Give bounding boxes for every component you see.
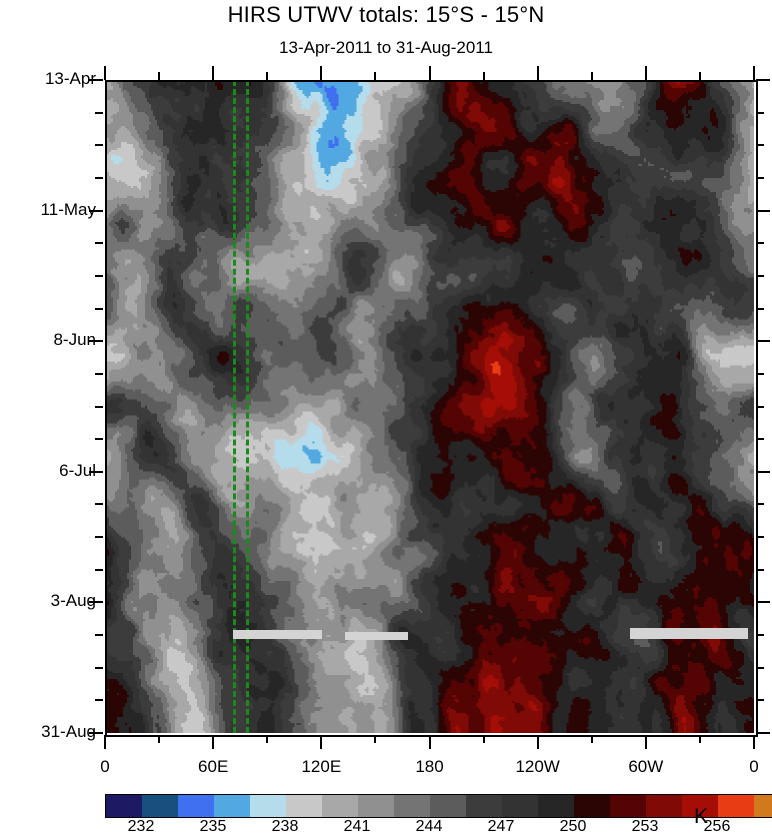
y-axis-minor-tick xyxy=(95,177,103,179)
colorbar-swatch xyxy=(646,795,682,817)
y-axis-major-tick xyxy=(756,340,770,342)
y-axis-minor-tick xyxy=(95,308,103,310)
x-axis-major-tick xyxy=(753,66,755,80)
y-axis-minor-tick xyxy=(95,699,103,701)
y-axis-minor-tick xyxy=(95,373,103,375)
hovmoller-plot-area[interactable] xyxy=(105,80,754,733)
colorbar-swatch xyxy=(610,795,646,817)
colorbar-swatch xyxy=(574,795,610,817)
x-axis-tick-label: 0 xyxy=(714,757,772,777)
x-axis-major-tick xyxy=(645,66,647,80)
y-axis-minor-tick xyxy=(756,667,764,669)
colorbar-tick-label: 232 xyxy=(111,818,171,836)
colorbar[interactable] xyxy=(105,794,772,818)
colorbar-swatch xyxy=(502,795,538,817)
y-axis-minor-tick xyxy=(95,242,103,244)
x-axis-tick-label: 180 xyxy=(390,757,470,777)
x-axis-major-tick xyxy=(429,66,431,80)
x-axis-minor-tick xyxy=(483,72,485,80)
y-axis-minor-tick xyxy=(756,112,764,114)
colorbar-swatch xyxy=(718,795,754,817)
y-axis-major-tick xyxy=(756,471,770,473)
x-axis-minor-tick xyxy=(591,735,593,743)
colorbar-unit-label: K xyxy=(694,805,708,829)
x-axis-major-tick xyxy=(320,66,322,80)
y-axis-minor-tick xyxy=(756,373,764,375)
colorbar-tick-label: 253 xyxy=(615,818,675,836)
missing-data-strip xyxy=(630,628,748,639)
y-axis-major-tick xyxy=(756,79,770,81)
y-axis-major-tick xyxy=(756,732,770,734)
y-axis-minor-tick xyxy=(756,536,764,538)
figure-subtitle: 13-Apr-2011 to 31-Aug-2011 xyxy=(0,38,772,58)
colorbar-swatch xyxy=(466,795,502,817)
colorbar-swatch xyxy=(106,795,142,817)
y-axis-tick-label: 8-Jun xyxy=(0,330,96,350)
y-axis-minor-tick xyxy=(756,699,764,701)
y-axis-major-tick xyxy=(756,210,770,212)
y-axis-minor-tick xyxy=(95,112,103,114)
y-axis-minor-tick xyxy=(756,634,764,636)
x-axis-minor-tick xyxy=(591,72,593,80)
y-axis-tick-label: 31-Aug xyxy=(0,722,96,742)
x-axis-tick-label: 60W xyxy=(606,757,686,777)
missing-data-strip xyxy=(233,630,322,639)
y-axis-minor-tick xyxy=(756,275,764,277)
colorbar-tick-label: 244 xyxy=(399,818,459,836)
colorbar-tick-label: 250 xyxy=(543,818,603,836)
y-axis-minor-tick xyxy=(95,144,103,146)
x-axis-major-tick xyxy=(104,66,106,80)
x-axis-major-tick xyxy=(320,735,322,749)
y-axis-minor-tick xyxy=(756,438,764,440)
y-axis-tick-label: 11-May xyxy=(0,200,96,220)
page-title: HIRS UTWV totals: 15°S - 15°N xyxy=(0,2,772,28)
x-axis-major-tick xyxy=(212,66,214,80)
y-axis-minor-tick xyxy=(95,667,103,669)
y-axis-tick-label: 6-Jul xyxy=(0,461,96,481)
colorbar-swatch xyxy=(430,795,466,817)
y-axis-minor-tick xyxy=(95,438,103,440)
colorbar-tick-label: 241 xyxy=(327,818,387,836)
x-axis-minor-tick xyxy=(483,735,485,743)
colorbar-swatch xyxy=(754,795,772,817)
y-axis-minor-tick xyxy=(756,144,764,146)
x-axis-major-tick xyxy=(104,735,106,749)
y-axis-minor-tick xyxy=(756,242,764,244)
x-axis-tick-label: 120E xyxy=(281,757,361,777)
x-axis-major-tick xyxy=(212,735,214,749)
x-axis-minor-tick xyxy=(699,72,701,80)
y-axis-minor-tick xyxy=(95,569,103,571)
y-axis-minor-tick xyxy=(756,308,764,310)
y-axis-tick-label: 3-Aug xyxy=(0,591,96,611)
x-axis-minor-tick xyxy=(158,735,160,743)
x-axis-major-tick xyxy=(429,735,431,749)
x-axis-tick-label: 60E xyxy=(173,757,253,777)
y-axis-minor-tick xyxy=(756,503,764,505)
colorbar-swatch xyxy=(214,795,250,817)
x-axis-major-tick xyxy=(645,735,647,749)
y-axis-tick-label: 13-Apr xyxy=(0,69,96,89)
colorbar-swatch xyxy=(286,795,322,817)
colorbar-swatch xyxy=(250,795,286,817)
x-axis-minor-tick xyxy=(266,72,268,80)
y-axis-minor-tick xyxy=(95,536,103,538)
x-axis-major-tick xyxy=(753,735,755,749)
x-axis-minor-tick xyxy=(374,735,376,743)
y-axis-minor-tick xyxy=(95,275,103,277)
colorbar-swatch xyxy=(358,795,394,817)
x-axis-minor-tick xyxy=(699,735,701,743)
y-axis-minor-tick xyxy=(756,177,764,179)
colorbar-tick-label: 247 xyxy=(471,818,531,836)
x-axis-tick-label: 0 xyxy=(65,757,145,777)
y-axis-minor-tick xyxy=(756,406,764,408)
colorbar-swatch xyxy=(178,795,214,817)
colorbar-swatch xyxy=(538,795,574,817)
y-axis-minor-tick xyxy=(95,503,103,505)
colorbar-swatch xyxy=(394,795,430,817)
y-axis-minor-tick xyxy=(95,406,103,408)
colorbar-tick-label: 235 xyxy=(183,818,243,836)
colorbar-swatch xyxy=(142,795,178,817)
colorbar-swatch xyxy=(322,795,358,817)
hovmoller-figure: HIRS UTWV totals: 15°S - 15°N 13-Apr-201… xyxy=(0,0,772,834)
y-axis-minor-tick xyxy=(95,634,103,636)
x-axis-tick-label: 120W xyxy=(498,757,578,777)
x-axis-minor-tick xyxy=(374,72,376,80)
y-axis-minor-tick xyxy=(756,569,764,571)
x-axis-minor-tick xyxy=(158,72,160,80)
x-axis-major-tick xyxy=(537,735,539,749)
x-axis-minor-tick xyxy=(266,735,268,743)
x-axis-major-tick xyxy=(537,66,539,80)
colorbar-tick-label: 238 xyxy=(255,818,315,836)
missing-data-strip xyxy=(345,632,408,640)
y-axis-major-tick xyxy=(756,601,770,603)
